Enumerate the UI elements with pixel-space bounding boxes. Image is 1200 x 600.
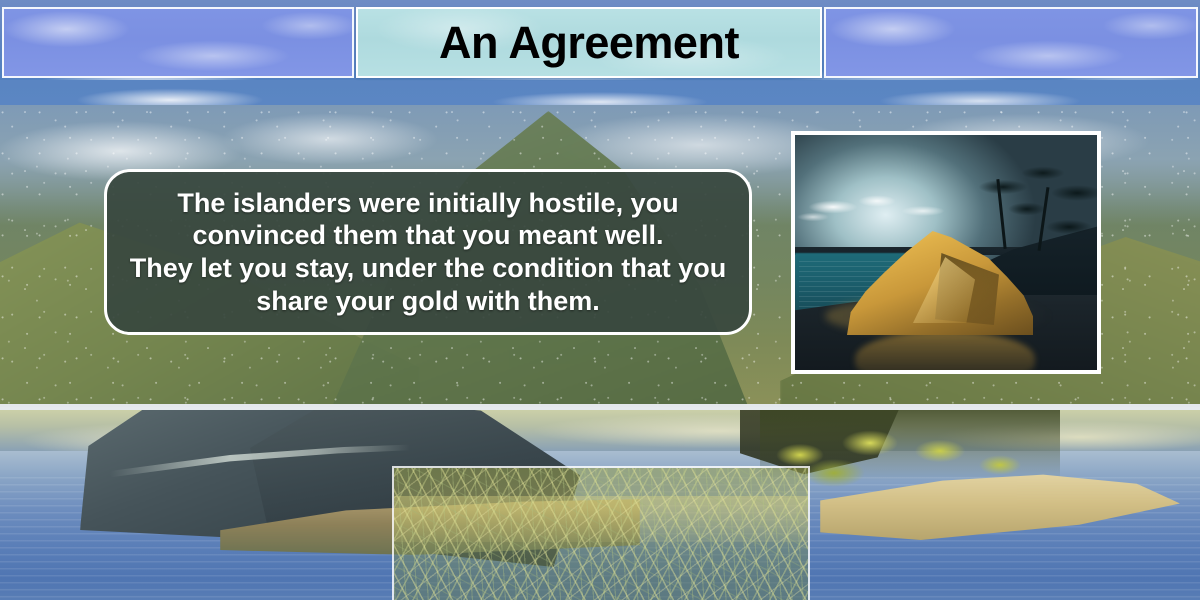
decorative-panel-right xyxy=(824,7,1198,78)
grass-blades-texture xyxy=(392,466,810,600)
slide-canvas: An Agreement The islanders were initiall… xyxy=(0,0,1200,600)
gold-treasure-island-image xyxy=(791,131,1101,374)
decorative-panel-left xyxy=(2,7,354,78)
divider-bottom-band xyxy=(0,407,1200,410)
narrative-text-box: The islanders were initially hostile, yo… xyxy=(104,169,752,335)
narrative-text: The islanders were initially hostile, yo… xyxy=(125,187,731,318)
page-title: An Agreement xyxy=(439,20,739,65)
cloud-strip xyxy=(0,80,1200,105)
slide-title-box: An Agreement xyxy=(356,7,822,78)
grass-texture-image xyxy=(392,466,810,600)
